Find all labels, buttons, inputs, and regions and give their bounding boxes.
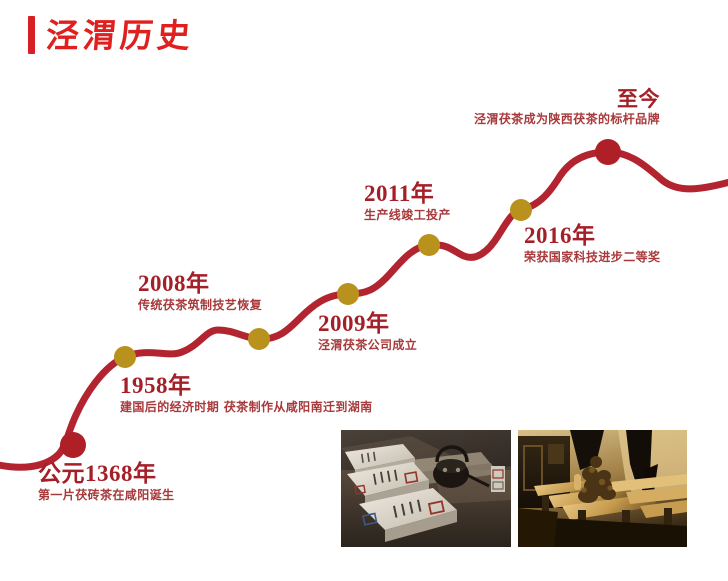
tea-bricks-image [341, 430, 511, 547]
milestone-label-2009: 2009年 泾渭茯茶公司成立 [318, 312, 417, 354]
tea-bricks-photo [341, 430, 511, 547]
milestone-dot-1368[interactable] [60, 432, 86, 458]
milestone-desc-2011: 生产线竣工投产 [364, 208, 451, 224]
milestone-dot-2009[interactable] [337, 283, 359, 305]
milestone-dot-2008[interactable] [248, 328, 270, 350]
milestone-desc-now: 泾渭茯茶成为陕西茯茶的标杆品牌 [420, 112, 660, 128]
workshop-photo [518, 430, 687, 547]
milestone-label-2016: 2016年 荣获国家科技进步二等奖 [524, 224, 660, 266]
milestone-year-2008: 2008年 [138, 272, 262, 296]
milestone-label-1958: 1958年 建国后的经济时期 茯茶制作从咸阳南迁到湖南 [120, 374, 373, 416]
milestone-year-2009: 2009年 [318, 312, 417, 336]
milestone-year-now: 至今 [420, 88, 660, 110]
milestone-year-1958: 1958年 [120, 374, 373, 398]
milestone-desc-1958: 建国后的经济时期 茯茶制作从咸阳南迁到湖南 [120, 400, 373, 416]
milestone-desc-2009: 泾渭茯茶公司成立 [318, 338, 417, 354]
milestone-dot-2016[interactable] [510, 199, 532, 221]
milestone-year-1368: 公元1368年 [38, 462, 174, 486]
milestone-dot-now[interactable] [595, 139, 621, 165]
milestone-label-2011: 2011年 生产线竣工投产 [364, 182, 451, 224]
milestone-year-2011: 2011年 [364, 182, 451, 206]
milestone-desc-2008: 传统茯茶筑制技艺恢复 [138, 298, 262, 314]
milestone-label-now: 至今 泾渭茯茶成为陕西茯茶的标杆品牌 [420, 88, 660, 128]
milestone-label-1368: 公元1368年 第一片茯砖茶在咸阳诞生 [38, 462, 174, 504]
milestone-label-2008: 2008年 传统茯茶筑制技艺恢复 [138, 272, 262, 314]
milestone-year-2016: 2016年 [524, 224, 660, 248]
milestone-desc-1368: 第一片茯砖茶在咸阳诞生 [38, 488, 174, 504]
infographic-canvas: 泾渭历史 公元1368年 第一片茯砖茶在咸阳诞生 1958年 建国后的经济时期 … [0, 0, 728, 581]
milestone-dot-1958[interactable] [114, 346, 136, 368]
milestone-dot-2011[interactable] [418, 234, 440, 256]
milestone-desc-2016: 荣获国家科技进步二等奖 [524, 250, 660, 266]
workshop-image [518, 430, 687, 547]
